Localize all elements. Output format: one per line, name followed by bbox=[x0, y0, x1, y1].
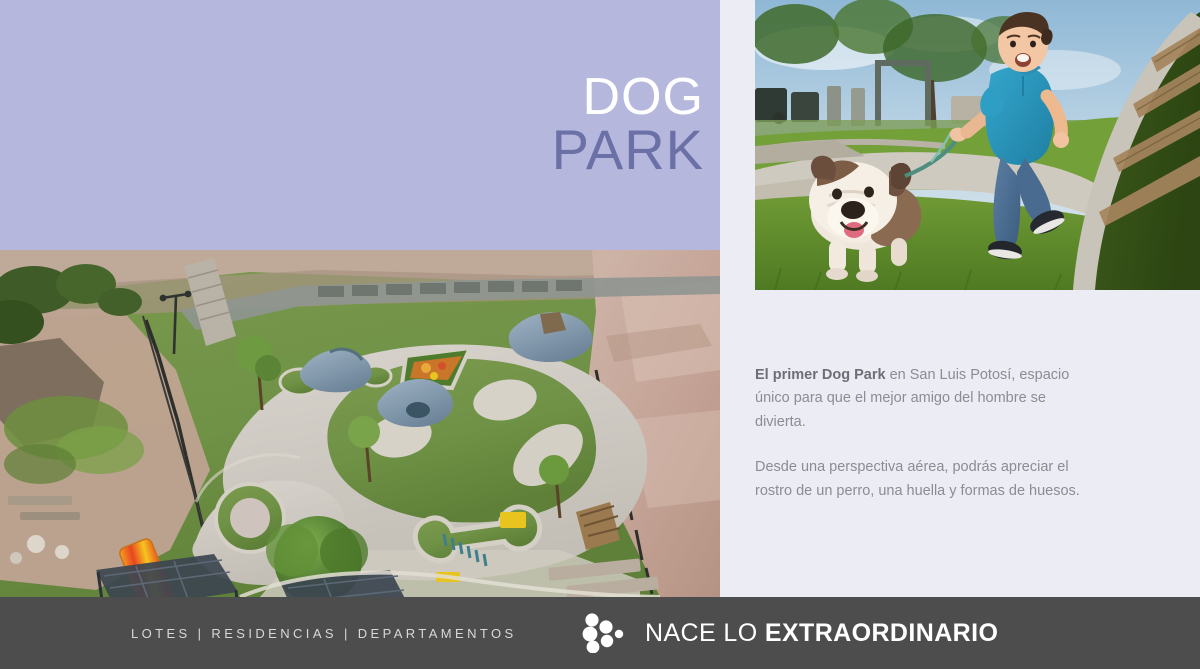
footer-tagline: NACE LO EXTRAORDINARIO bbox=[645, 619, 998, 648]
title-line-dog: DOG bbox=[583, 72, 704, 123]
footer-bar: LOTES | RESIDENCIAS | DEPARTAMENTOS NACE… bbox=[0, 597, 1200, 669]
title-block: DOG PARK bbox=[0, 0, 720, 250]
footer-categories: LOTES | RESIDENCIAS | DEPARTAMENTOS bbox=[131, 626, 517, 641]
aerial-park-photo bbox=[0, 250, 720, 597]
copy-paragraph-1: El primer Dog Park en San Luis Potosí, e… bbox=[755, 364, 1085, 434]
dot-cluster-logo bbox=[582, 613, 628, 653]
copy-bold-lead: El primer Dog Park bbox=[755, 367, 886, 383]
footer-tagline-bold: EXTRAORDINARIO bbox=[765, 619, 998, 647]
title-line-park: PARK bbox=[552, 122, 704, 178]
body-copy: El primer Dog Park en San Luis Potosí, e… bbox=[755, 364, 1085, 503]
footer-tagline-light: NACE LO bbox=[645, 619, 765, 647]
copy-paragraph-2: Desde una perspectiva aérea, podrás apre… bbox=[755, 456, 1085, 503]
boy-and-dog-photo bbox=[755, 0, 1200, 290]
slide-root: DOG PARK bbox=[0, 0, 1200, 669]
